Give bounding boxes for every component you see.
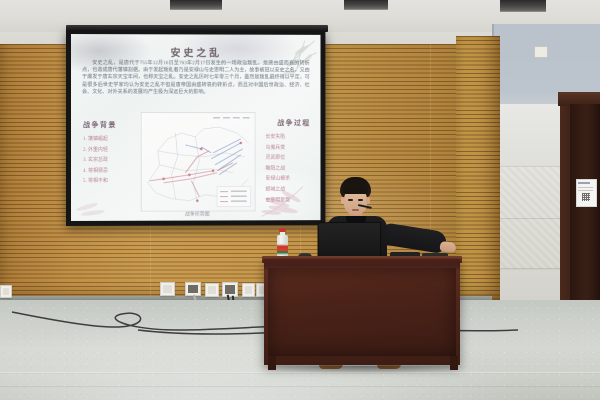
list-item: 1. 藩镇崛起 <box>83 135 137 146</box>
wall-socket-high-icon <box>534 46 548 58</box>
list-item: 安禄山被杀 <box>265 175 314 186</box>
list-item: 4. 将相猜忌 <box>83 167 137 178</box>
bottle-cap <box>279 228 286 232</box>
slide-right-column-list: 长安失陷 马嵬兵变 灵武即位 睢阳之战 安禄山被杀 邺城之战 史思明复叛 <box>265 133 314 207</box>
wall-outlet-6[interactable] <box>242 283 255 297</box>
list-item: 长安失陷 <box>265 133 314 144</box>
wall-outlet-5[interactable] <box>222 282 238 297</box>
slide-left-column-heading: 战争背景 <box>83 120 117 130</box>
slide-title: 安史之乱 <box>71 44 320 60</box>
list-item: 3. 玄宗怠政 <box>83 156 137 167</box>
campaign-map <box>141 112 256 212</box>
wall-outlet-2[interactable] <box>160 282 175 296</box>
presenter-hand <box>439 241 456 253</box>
list-item: 2. 外重内轻 <box>83 146 137 157</box>
list-item: 睢阳之战 <box>265 164 314 175</box>
slide-surface: 安史之乱 安史之乱，是唐代于755年12月16日至763年2月17日发生的一场政… <box>71 34 320 221</box>
slide-left-column-list: 1. 藩镇崛起 2. 外重内轻 3. 玄宗怠政 4. 将相猜忌 5. 将相不和 <box>83 135 137 188</box>
map-caption: 战争形势图 <box>141 210 254 217</box>
bottle-label <box>277 244 288 255</box>
wood-slat-wall-right <box>456 36 500 300</box>
ceiling-vent-left-icon <box>170 0 222 10</box>
list-item: 邺城之战 <box>265 185 314 196</box>
list-item: 史思明复叛 <box>265 196 314 207</box>
slide-right-column-heading: 战争过程 <box>277 118 310 128</box>
ceiling-vent-right-icon <box>500 0 546 12</box>
list-item: 灵武即位 <box>265 154 314 165</box>
list-item: 5. 将相不和 <box>83 177 137 188</box>
lecture-hall-scene: 安史之乱 安史之乱，是唐代于755年12月16日至763年2月17日发生的一场政… <box>0 0 600 400</box>
ceiling-vent-center-icon <box>344 0 388 10</box>
podium-front-panel <box>268 268 456 356</box>
wall-outlet-4[interactable] <box>205 283 219 297</box>
slide-body-text: 安史之乱，是唐代于755年12月16日至763年2月17日发生的一场政治叛乱，是… <box>82 60 310 96</box>
projection-screen: 安史之乱 安史之乱，是唐代于755年12月16日至763年2月17日发生的一场政… <box>66 30 325 226</box>
right-wall-panel-upper <box>497 104 563 168</box>
qr-code-icon <box>582 193 590 201</box>
list-item: 马嵬兵变 <box>265 143 314 154</box>
bamboo-decoration-left-icon <box>73 185 119 219</box>
